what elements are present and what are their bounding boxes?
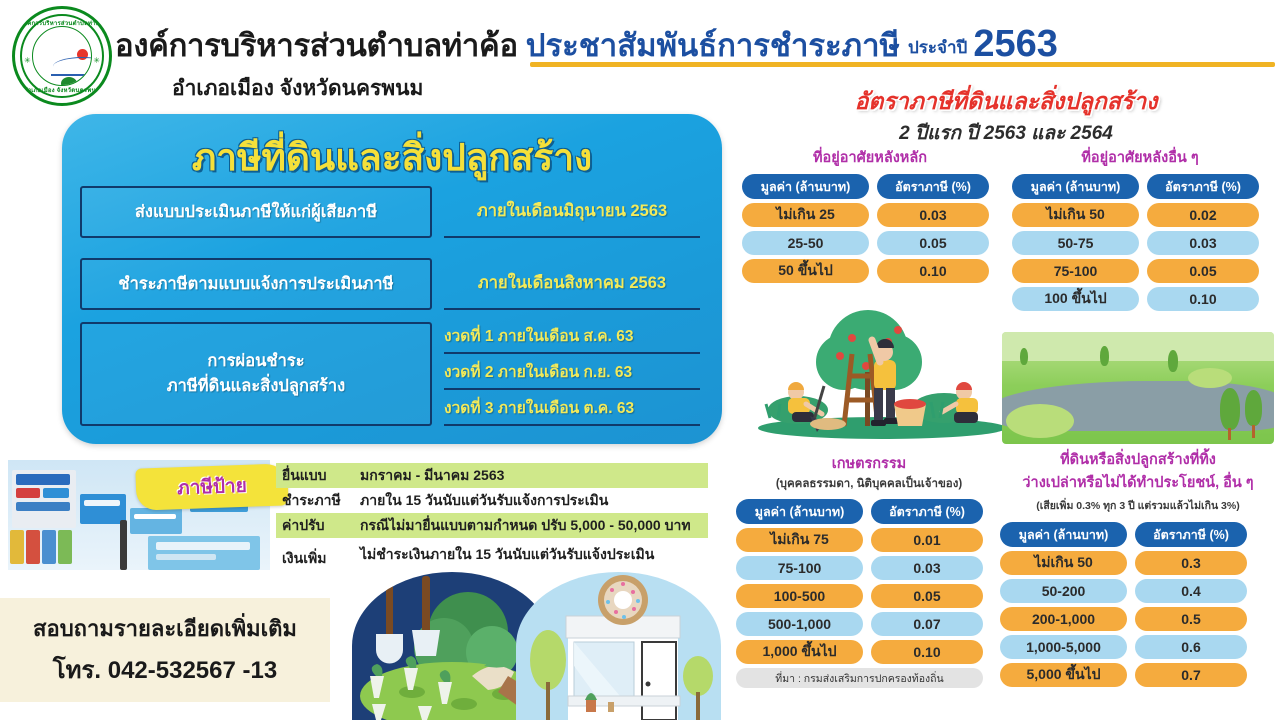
table-agriculture: เกษตรกรรม (บุคคลธรรมดา, นิติบุคคลเป็นเจ้… (736, 452, 1002, 688)
table-row: 200-1,000 0.5 (1000, 607, 1276, 631)
table-row: 5,000 ขึ้นไป 0.7 (1000, 663, 1276, 687)
table-row: 500-1,000 0.07 (736, 612, 1002, 636)
cell-rate: 0.4 (1135, 579, 1247, 603)
schedule-value-1-text: ภายในเดือนมิถุนายน 2563 (477, 198, 667, 224)
cell-value: 1,000 ขึ้นไป (736, 640, 863, 664)
contact-line-2: โทร. 042-532567 -13 (53, 650, 277, 689)
table-main-residence-header-row: มูลค่า (ล้านบาท) อัตราภาษี (%) (742, 174, 998, 199)
table-row: 100 ขึ้นไป 0.10 (1012, 287, 1268, 311)
cell-rate: 0.3 (1135, 551, 1247, 575)
cell-value: 100-500 (736, 584, 863, 608)
table-row: ไม่เกิน 50 0.02 (1012, 203, 1268, 227)
source-note-row: ที่มา : กรมส่งเสริมการปกครองท้องถิ่น (736, 668, 1002, 688)
sign-tax-value-3: กรณีไม่มายื่นแบบตามกำหนด ปรับ 5,000 - 50… (360, 515, 708, 537)
cell-value: 25-50 (742, 231, 869, 255)
cell-rate: 0.02 (1147, 203, 1259, 227)
schedule-value-2-text: ภายในเดือนสิงหาคม 2563 (478, 270, 666, 296)
table-row: 75-100 0.03 (736, 556, 1002, 580)
table-vacant-land-heading-1: ที่ดินหรือสิ่งปลูกสร้างที่ทิ้ง (1000, 448, 1276, 471)
infographic-root: องค์การบริหารส่วนตำบลท่าค้อ ✳✳ อำเภอเมือ… (0, 0, 1280, 720)
cell-rate: 0.7 (1135, 663, 1247, 687)
table-main-residence-heading: ที่อยู่อาศัยหลังหลัก (742, 146, 998, 169)
table-row: 75-100 0.05 (1012, 259, 1268, 283)
landscape-illustration (1002, 332, 1274, 444)
installment-list: งวดที่ 1 ภายในเดือน ส.ค. 63 งวดที่ 2 ภาย… (444, 318, 700, 426)
cell-rate: 0.10 (1147, 287, 1259, 311)
year-value: 2563 (973, 23, 1058, 65)
pr-title: ประชาสัมพันธ์การชำระภาษี (526, 28, 900, 63)
source-note: ที่มา : กรมส่งเสริมการปกครองท้องถิ่น (736, 668, 983, 688)
cell-value: ไม่เกิน 50 (1000, 551, 1127, 575)
installment-item-1: งวดที่ 1 ภายในเดือน ส.ค. 63 (444, 318, 700, 354)
table-row: 1,000-5,000 0.6 (1000, 635, 1276, 659)
table-vacant-land-header-row: มูลค่า (ล้านบาท) อัตราภาษี (%) (1000, 522, 1276, 547)
col-header-value: มูลค่า (ล้านบาท) (1000, 522, 1127, 547)
col-header-rate: อัตราภาษี (%) (877, 174, 989, 199)
logo-bottom-text: อำเภอเมือง จังหวัดนครพนม (15, 85, 109, 95)
table-other-residence-heading: ที่อยู่อาศัยหลังอื่น ๆ (1012, 146, 1268, 169)
cell-value: 100 ขึ้นไป (1012, 287, 1139, 311)
table-agriculture-subheading: (บุคคลธรรมดา, นิติบุคคลเป็นเจ้าของ) (736, 475, 1002, 493)
schedule-label-2-text: ชำระภาษีตามแบบแจ้งการประเมินภาษี (118, 271, 393, 297)
table-row: 50-200 0.4 (1000, 579, 1276, 603)
contact-line-1: สอบถามรายละเอียดเพิ่มเติม (33, 611, 297, 646)
cell-rate: 0.03 (871, 556, 983, 580)
cell-value: ไม่เกิน 50 (1012, 203, 1139, 227)
cell-rate: 0.05 (871, 584, 983, 608)
table-vacant-land-note: (เสียเพิ่ม 0.3% ทุก 3 ปี แต่รวมแล้วไม่เก… (1000, 497, 1276, 514)
organization-logo-icon: องค์การบริหารส่วนตำบลท่าค้อ ✳✳ อำเภอเมือ… (12, 6, 112, 106)
table-row: 50-75 0.03 (1012, 231, 1268, 255)
schedule-value-1: ภายในเดือนมิถุนายน 2563 (444, 186, 700, 238)
district-subtitle: อำเภอเมือง จังหวัดนครพนม (172, 72, 423, 105)
contact-block: สอบถามรายละเอียดเพิ่มเติม โทร. 042-53256… (0, 598, 330, 702)
installment-item-3-text: งวดที่ 3 ภายในเดือน ต.ค. 63 (444, 395, 634, 420)
cell-value: 5,000 ขึ้นไป (1000, 663, 1127, 687)
table-main-residence: ที่อยู่อาศัยหลังหลัก มูลค่า (ล้านบาท) อั… (742, 146, 998, 283)
rate-section-subtitle: 2 ปีแรก ปี 2563 และ 2564 (736, 118, 1276, 148)
sign-tax-badge: ภาษีป้าย (135, 463, 288, 510)
land-building-tax-panel: ภาษีที่ดินและสิ่งปลูกสร้าง ส่งแบบประเมิน… (62, 114, 722, 444)
cell-rate: 0.03 (1147, 231, 1259, 255)
table-row: 50 ขึ้นไป 0.10 (742, 259, 998, 283)
sign-tax-key-2: ชำระภาษี (276, 490, 360, 512)
cell-rate: 0.10 (877, 259, 989, 283)
table-agriculture-header-row: มูลค่า (ล้านบาท) อัตราภาษี (%) (736, 499, 1002, 524)
cell-rate: 0.10 (871, 640, 983, 664)
table-row: 25-50 0.05 (742, 231, 998, 255)
col-header-rate: อัตราภาษี (%) (871, 499, 983, 524)
cell-rate: 0.01 (871, 528, 983, 552)
installment-label-box: การผ่อนชำระ ภาษีที่ดินและสิ่งปลูกสร้าง (80, 322, 432, 426)
cell-rate: 0.05 (1147, 259, 1259, 283)
org-name: องค์การบริหารส่วนตำบลท่าค้อ (115, 28, 518, 63)
shop-illustration (516, 572, 721, 720)
table-agriculture-heading: เกษตรกรรม (736, 452, 1002, 475)
sign-tax-panel: ภาษีป้าย ยื่นแบบ มกราคม - มีนาคม 2563 ชำ… (8, 460, 708, 578)
year-label: ประจำปี (908, 38, 967, 57)
col-header-rate: อัตราภาษี (%) (1135, 522, 1247, 547)
cell-value: ไม่เกิน 25 (742, 203, 869, 227)
table-row: 100-500 0.05 (736, 584, 1002, 608)
installment-item-2-text: งวดที่ 2 ภายในเดือน ก.ย. 63 (444, 359, 632, 384)
cell-rate: 0.03 (877, 203, 989, 227)
sign-tax-key-3: ค่าปรับ (276, 515, 360, 537)
installment-item-1-text: งวดที่ 1 ภายในเดือน ส.ค. 63 (444, 323, 634, 348)
sign-tax-row-3: ค่าปรับ กรณีไม่มายื่นแบบตามกำหนด ปรับ 5,… (276, 513, 708, 538)
schedule-value-2: ภายในเดือนสิงหาคม 2563 (444, 258, 700, 310)
sign-tax-row-2: ชำระภาษี ภายใน 15 วันนับแต่วันรับแจ้งการ… (276, 488, 708, 513)
cell-rate: 0.5 (1135, 607, 1247, 631)
cell-value: 75-100 (736, 556, 863, 580)
panel-title: ภาษีที่ดินและสิ่งปลูกสร้าง (62, 128, 722, 187)
sign-tax-key-1: ยื่นแบบ (276, 465, 360, 487)
table-row: ไม่เกิน 50 0.3 (1000, 551, 1276, 575)
table-row: ไม่เกิน 75 0.01 (736, 528, 1002, 552)
sign-tax-row-1: ยื่นแบบ มกราคม - มีนาคม 2563 (276, 463, 708, 488)
installment-item-2: งวดที่ 2 ภายในเดือน ก.ย. 63 (444, 354, 700, 390)
col-header-value: มูลค่า (ล้านบาท) (1012, 174, 1139, 199)
schedule-row-1: ส่งแบบประเมินภาษีให้แก่ผู้เสียภาษี ภายใน… (62, 186, 722, 238)
cell-rate: 0.6 (1135, 635, 1247, 659)
col-header-value: มูลค่า (ล้านบาท) (742, 174, 869, 199)
cell-value: 1,000-5,000 (1000, 635, 1127, 659)
cell-value: 75-100 (1012, 259, 1139, 283)
schedule-row-2: ชำระภาษีตามแบบแจ้งการประเมินภาษี ภายในเด… (62, 258, 722, 310)
installment-item-3: งวดที่ 3 ภายในเดือน ต.ค. 63 (444, 390, 700, 426)
table-vacant-land: ที่ดินหรือสิ่งปลูกสร้างที่ทิ้ง ว่างเปล่า… (1000, 448, 1276, 687)
col-header-value: มูลค่า (ล้านบาท) (736, 499, 863, 524)
table-vacant-land-heading-2: ว่างเปล่าหรือไม่ได้ทำประโยชน์, อื่น ๆ (1000, 471, 1276, 494)
schedule-label-2: ชำระภาษีตามแบบแจ้งการประเมินภาษี (80, 258, 432, 310)
cell-rate: 0.07 (871, 612, 983, 636)
sign-tax-rows: ยื่นแบบ มกราคม - มีนาคม 2563 ชำระภาษี ภา… (276, 463, 708, 572)
sign-tax-value-4: ไม่ชำระเงินภายใน 15 วันนับแต่วันรับแจ้งป… (360, 544, 708, 566)
installment-label-line1: การผ่อนชำระ (207, 349, 304, 374)
sign-tax-value-1: มกราคม - มีนาคม 2563 (360, 465, 708, 487)
installment-label-line2: ภาษีที่ดินและสิ่งปลูกสร้าง (167, 374, 345, 399)
table-row: 1,000 ขึ้นไป 0.10 (736, 640, 1002, 664)
cell-value: 50-200 (1000, 579, 1127, 603)
farm-scene-illustration (748, 300, 1016, 440)
table-row: ไม่เกิน 25 0.03 (742, 203, 998, 227)
cell-rate: 0.05 (877, 231, 989, 255)
cell-value: 50 ขึ้นไป (742, 259, 869, 283)
schedule-label-1: ส่งแบบประเมินภาษีให้แก่ผู้เสียภาษี (80, 186, 432, 238)
sign-tax-badge-label: ภาษีป้าย (177, 471, 248, 503)
cell-value: 500-1,000 (736, 612, 863, 636)
cell-value: ไม่เกิน 75 (736, 528, 863, 552)
table-other-residence-header-row: มูลค่า (ล้านบาท) อัตราภาษี (%) (1012, 174, 1268, 199)
cell-value: 200-1,000 (1000, 607, 1127, 631)
col-header-rate: อัตราภาษี (%) (1147, 174, 1259, 199)
sign-tax-value-2: ภายใน 15 วันนับแต่วันรับแจ้งการประเมิน (360, 490, 708, 512)
cell-value: 50-75 (1012, 231, 1139, 255)
schedule-label-1-text: ส่งแบบประเมินภาษีให้แก่ผู้เสียภาษี (135, 199, 377, 225)
rate-section-title: อัตราภาษีที่ดินและสิ่งปลูกสร้าง (736, 84, 1276, 120)
sign-tax-key-4: เงินเพิ่ม (276, 548, 360, 572)
header-underline (530, 62, 1275, 67)
table-other-residence: ที่อยู่อาศัยหลังอื่น ๆ มูลค่า (ล้านบาท) … (1012, 146, 1268, 311)
sign-tax-row-4: เงินเพิ่ม ไม่ชำระเงินภายใน 15 วันนับแต่ว… (276, 538, 708, 572)
